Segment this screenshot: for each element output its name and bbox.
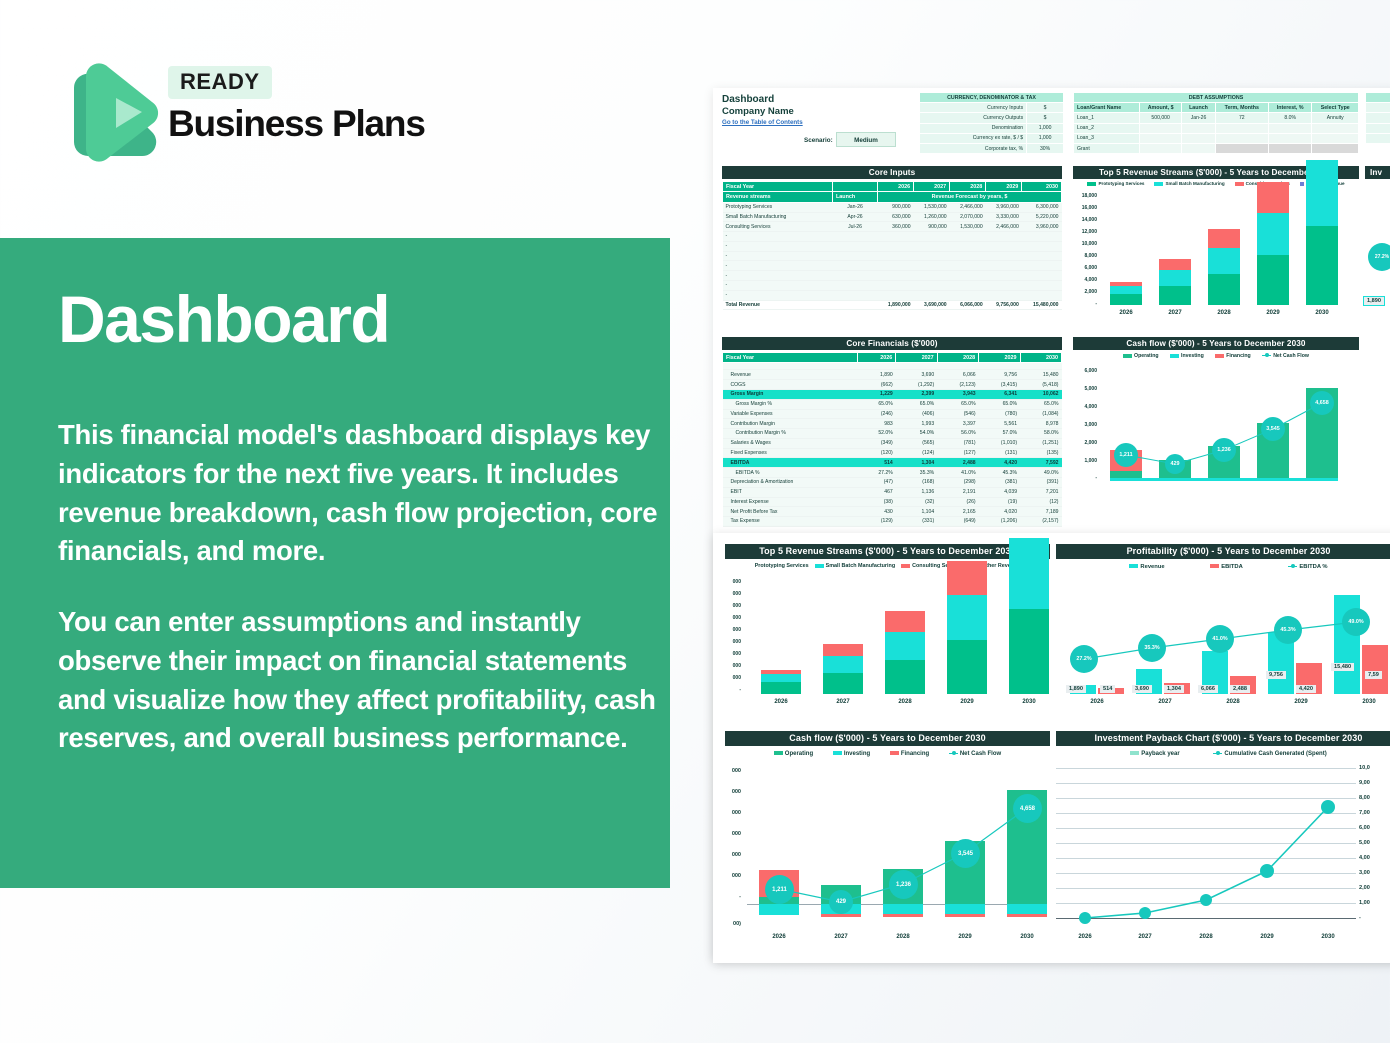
fin-value: (38): [858, 497, 896, 507]
debt-cell[interactable]: 72: [1215, 113, 1268, 123]
x-tick: 2030: [1342, 699, 1390, 705]
bar-segment: [1208, 248, 1240, 274]
stream-value[interactable]: [914, 261, 950, 271]
stream-launch[interactable]: [833, 271, 878, 281]
chart-title-cashflow-bottom: Cash flow ($'000) - 5 Years to December …: [725, 731, 1050, 746]
debt-cell[interactable]: [1215, 133, 1268, 143]
stream-launch[interactable]: Jul-26: [833, 222, 878, 232]
fin-label: Interest Expense: [723, 497, 858, 507]
fin-value: 65.0%: [1020, 399, 1061, 409]
fin-value: 430: [858, 507, 896, 517]
x-tick: 2026: [1110, 310, 1142, 316]
fin-label: EBITDA: [723, 458, 858, 468]
x-tick: 2028: [1206, 699, 1260, 705]
stream-launch[interactable]: Jan-26: [833, 202, 878, 212]
core-financials-year-header: Fiscal Year 2026 2027 2028 2029 2030: [723, 353, 1062, 363]
stream-value[interactable]: [1022, 290, 1062, 300]
stream-value[interactable]: [950, 232, 986, 242]
y-tick: 000: [725, 639, 741, 645]
debt-cell[interactable]: [1139, 133, 1181, 143]
currency-row-value[interactable]: $: [1027, 113, 1064, 123]
stream-value[interactable]: 2,466,000: [986, 222, 1022, 232]
fiscal-year-label: Fiscal Year: [723, 353, 858, 363]
year-header: 2029: [979, 353, 1020, 363]
stream-value[interactable]: 6,300,000: [1022, 202, 1062, 212]
debt-cell[interactable]: [1139, 143, 1181, 153]
x-tick: 2026: [759, 934, 799, 940]
scenario-select[interactable]: Medium: [836, 132, 896, 147]
stream-name[interactable]: -: [723, 290, 833, 300]
core-financials-banner: Core Financials ($'000): [722, 337, 1062, 350]
debt-cell: [1268, 143, 1312, 153]
x-tick: 2027: [1125, 934, 1165, 940]
total-value: 3,690,000: [914, 300, 950, 310]
fin-value: (19): [979, 497, 1020, 507]
fin-value: 1,136: [896, 487, 937, 497]
stream-name[interactable]: -: [723, 281, 833, 291]
fin-label: Net Profit Before Tax: [723, 507, 858, 517]
core-inputs-sub-header: Revenue streams Launch Revenue Forecast …: [723, 192, 1062, 202]
debt-cell[interactable]: [1312, 133, 1359, 143]
y-tick: 4,000: [1073, 277, 1097, 283]
bar-segment: [947, 640, 987, 694]
fin-value: 10,062: [1020, 389, 1061, 399]
fin-value: 2,488: [937, 458, 978, 468]
fin-value: 514: [858, 458, 896, 468]
debt-cell[interactable]: Grant: [1074, 143, 1140, 153]
stream-value[interactable]: 1,530,000: [914, 202, 950, 212]
total-value: 15,480,000: [1022, 300, 1062, 310]
stream-value[interactable]: [950, 251, 986, 261]
bar-segment: [1110, 282, 1142, 286]
profit-box-label: 1,890: [1363, 296, 1385, 306]
total-value: 1,890,000: [878, 300, 914, 310]
stream-value[interactable]: [986, 271, 1022, 281]
stream-launch[interactable]: Apr-26: [833, 212, 878, 222]
brand-name: Business Plans: [168, 103, 425, 145]
net-cash-flow-point: 3,545: [951, 839, 980, 868]
fin-value: 4,420: [979, 458, 1020, 468]
net-cash-flow-point: 1,236: [889, 870, 918, 899]
x-tick: 2026: [761, 699, 801, 705]
debt-cell[interactable]: Jan-26: [1182, 113, 1215, 123]
fin-value: 8,978: [1020, 419, 1061, 429]
fin-value: 1,993: [896, 419, 937, 429]
stream-name[interactable]: Small Batch Manufacturing: [723, 212, 833, 222]
stream-name[interactable]: Prototyping Services: [723, 202, 833, 212]
fin-value: (2,123): [937, 380, 978, 390]
debt-cell[interactable]: [1182, 133, 1215, 143]
fin-value: (5,418): [1020, 380, 1061, 390]
chart-investment-payback: Payback year Cumulative Cash Generated (…: [1056, 746, 1390, 958]
fin-value: (12): [1020, 497, 1061, 507]
bar-segment: [1110, 294, 1142, 305]
debt-col-header: Term, Months: [1215, 103, 1268, 113]
fin-label: Variable Expenses: [723, 409, 858, 419]
stream-launch[interactable]: [833, 232, 878, 242]
bar-segment: [885, 611, 925, 632]
stream-launch[interactable]: [833, 290, 878, 300]
debt-cell[interactable]: [1268, 133, 1312, 143]
y-tick: 6,000: [1073, 265, 1097, 271]
debt-cell[interactable]: Loan_3: [1074, 133, 1140, 143]
fiscal-year-label: Fiscal Year: [723, 182, 833, 192]
fin-value: 3,943: [937, 389, 978, 399]
table-row: Gross Margin %65.0%65.0%65.0%65.0%65.0%: [723, 399, 1062, 409]
y-tick: -: [725, 687, 741, 693]
working-cell[interactable]: [1366, 123, 1390, 133]
ebitda-percent-point: 35.3%: [1138, 634, 1166, 662]
x-tick: 2028: [885, 699, 925, 705]
stream-value[interactable]: [914, 232, 950, 242]
y-tick: -: [1073, 301, 1097, 307]
stream-value[interactable]: [878, 290, 914, 300]
chart-profitability: Revenue EBITDA EBITDA % 1,890 514 3,690 …: [1056, 559, 1390, 721]
stream-value[interactable]: 1,260,000: [914, 212, 950, 222]
stream-value[interactable]: [914, 251, 950, 261]
fin-value: (565): [896, 438, 937, 448]
stream-value[interactable]: 900,000: [914, 222, 950, 232]
year-header: 2030: [1020, 353, 1061, 363]
stream-name[interactable]: -: [723, 261, 833, 271]
stream-value[interactable]: [1022, 281, 1062, 291]
total-revenue-row: Total Revenue 1,890,000 3,690,000 6,066,…: [723, 300, 1062, 310]
table-row: COGS(662)(1,292)(2,123)(3,415)(5,418): [723, 380, 1062, 390]
fin-value: (391): [1020, 477, 1061, 487]
fin-value: 56.0%: [937, 429, 978, 439]
ebitda-percent-point: 49.0%: [1342, 608, 1370, 636]
table-row: EBITDA %27.2%35.3%41.0%45.3%49.0%: [723, 468, 1062, 478]
table-row: Contribution Margin %52.0%54.0%56.0%57.0…: [723, 429, 1062, 439]
bar-segment: [761, 682, 801, 694]
fin-value: 7,201: [1020, 487, 1061, 497]
stream-name[interactable]: -: [723, 251, 833, 261]
chart-title-revenue-streams-bottom: Top 5 Revenue Streams ($'000) - 5 Years …: [725, 544, 1050, 559]
stream-value[interactable]: 2,466,000: [950, 202, 986, 212]
stream-value[interactable]: [986, 290, 1022, 300]
table-row: Interest Expense(38)(32)(26)(19)(12): [723, 497, 1062, 507]
bar-segment: [947, 561, 987, 595]
bar-segment: [1257, 182, 1289, 213]
stream-name[interactable]: -: [723, 241, 833, 251]
fin-label: EBIT: [723, 487, 858, 497]
stream-value[interactable]: 5,220,000: [1022, 212, 1062, 222]
fin-value: (381): [979, 477, 1020, 487]
legend-item: Prototyping Services: [755, 563, 809, 569]
fin-value: (26): [937, 497, 978, 507]
stream-value[interactable]: [1022, 271, 1062, 281]
fin-value: 2,165: [937, 507, 978, 517]
net-cash-flow-line: [725, 746, 1050, 958]
ebitda-percent-point: 45.3%: [1274, 616, 1302, 644]
stream-launch[interactable]: [833, 261, 878, 271]
page-title: Dashboard: [58, 286, 389, 352]
year-header: 2028: [937, 353, 978, 363]
bar-segment: [1306, 226, 1338, 305]
fin-label: Contribution Margin: [723, 419, 858, 429]
net-cash-flow-point: 1,236: [1212, 438, 1236, 462]
x-tick: 2028: [1208, 310, 1240, 316]
table-of-contents-link[interactable]: Go to the Table of Contents: [722, 119, 803, 126]
table-row: EBITDA5141,3042,4884,4207,592: [723, 458, 1062, 468]
table-row: Contribution Margin9831,9933,3975,5618,9…: [723, 419, 1062, 429]
fin-value: 1,229: [858, 389, 896, 399]
x-tick: 2029: [1247, 934, 1287, 940]
fin-label: COGS: [723, 380, 858, 390]
stream-value[interactable]: [986, 281, 1022, 291]
forecast-label: Revenue Forecast by years, $: [878, 192, 1062, 202]
brand-logo[interactable]: READY Business Plans: [56, 54, 456, 166]
y-tick: 000: [725, 627, 741, 633]
fin-value: 1,890: [858, 370, 896, 380]
fin-value: 7,189: [1020, 507, 1061, 517]
bar-segment: [823, 656, 863, 673]
fin-value: (298): [937, 477, 978, 487]
debt-cell[interactable]: Loan_1: [1074, 113, 1140, 123]
fin-value: 15,480: [1020, 370, 1061, 380]
table-row: -: [723, 251, 1062, 261]
hero-paragraph-1: This financial model's dashboard display…: [58, 416, 658, 571]
stream-value[interactable]: [914, 241, 950, 251]
debt-cell[interactable]: [1215, 123, 1268, 133]
debt-cell[interactable]: [1182, 123, 1215, 133]
stream-value[interactable]: 360,000: [878, 222, 914, 232]
fin-value: 983: [858, 419, 896, 429]
fin-value: (546): [937, 409, 978, 419]
net-cash-flow-point: 429: [1165, 454, 1185, 474]
x-tick: 2029: [945, 934, 985, 940]
debt-cell[interactable]: Annuity: [1312, 113, 1359, 123]
chart-legend: Prototyping ServicesSmall Batch Manufact…: [725, 563, 1050, 569]
stream-value[interactable]: [986, 232, 1022, 242]
stream-value[interactable]: [986, 241, 1022, 251]
bar-segment: [761, 674, 801, 682]
stream-launch[interactable]: [833, 241, 878, 251]
fin-value: (781): [937, 438, 978, 448]
debt-cell[interactable]: [1268, 123, 1312, 133]
brand-badge: READY: [168, 66, 272, 99]
bar-segment: [823, 644, 863, 656]
bar-segment: [885, 660, 925, 694]
fin-value: (129): [858, 517, 896, 527]
stream-value[interactable]: [950, 241, 986, 251]
cumulative-cash-line: [1056, 746, 1390, 958]
sheet-subtitle: Company Name: [722, 106, 794, 117]
x-tick: 2029: [947, 699, 987, 705]
stream-name[interactable]: -: [723, 271, 833, 281]
bar-segment: [1208, 229, 1240, 248]
stream-launch[interactable]: [833, 281, 878, 291]
brand-wordmark: READY Business Plans: [168, 66, 425, 145]
fin-value: 45.3%: [979, 468, 1020, 478]
fin-value: (47): [858, 477, 896, 487]
stream-value[interactable]: [1022, 232, 1062, 242]
debt-cell[interactable]: Loan_2: [1074, 123, 1140, 133]
currency-row-label: Corporate tax, %: [920, 143, 1027, 153]
y-tick: 2,000: [1073, 289, 1097, 295]
table-row: Revenue1,8903,6906,0669,75615,480: [723, 370, 1062, 380]
chart-title-investment-partial: Inv: [1365, 166, 1390, 179]
table-row: Consulting ServicesJul-26360,000900,0001…: [723, 222, 1062, 232]
stream-value[interactable]: [914, 290, 950, 300]
currency-row-value[interactable]: $: [1027, 103, 1064, 113]
fin-value: (127): [937, 448, 978, 458]
fin-label: EBITDA %: [723, 468, 858, 478]
fin-value: 1,304: [896, 458, 937, 468]
fin-value: (32): [896, 497, 937, 507]
debt-col-header: Amount, $: [1139, 103, 1181, 113]
stream-value[interactable]: [914, 271, 950, 281]
debt-col-header: Launch: [1182, 103, 1215, 113]
table-row: Small Batch ManufacturingApr-26630,0001,…: [723, 212, 1062, 222]
fin-label: Gross Margin: [723, 389, 858, 399]
stream-value[interactable]: [986, 261, 1022, 271]
table-row: -: [723, 241, 1062, 251]
debt-cell[interactable]: [1139, 123, 1181, 133]
y-tick: 000: [725, 591, 741, 597]
year-header: 2028: [950, 182, 986, 192]
stream-value[interactable]: [986, 251, 1022, 261]
fin-value: (406): [896, 409, 937, 419]
stream-name[interactable]: -: [723, 232, 833, 242]
working-cell[interactable]: [1366, 113, 1390, 123]
working-panel-header: WOR: [1366, 93, 1390, 103]
table-row: Fixed Expenses(120)(124)(127)(131)(135): [723, 448, 1062, 458]
stream-launch[interactable]: [833, 251, 878, 261]
bar-segment: [1306, 160, 1338, 226]
x-tick: 2030: [1308, 934, 1348, 940]
debt-cell[interactable]: [1182, 143, 1215, 153]
chart-cashflow-top: Operating Investing Financing Net Cash F…: [1073, 350, 1359, 490]
sheet-title: Dashboard: [722, 94, 774, 105]
total-label: Total Revenue: [723, 300, 833, 310]
fin-value: (1,251): [1020, 438, 1061, 448]
stream-value[interactable]: [1022, 241, 1062, 251]
currency-row-label: Currency ex rate, $ / $: [920, 133, 1027, 143]
stream-value[interactable]: 900,000: [878, 202, 914, 212]
working-capital-panel: WOR A De: [1365, 92, 1390, 144]
year-header: 2027: [896, 353, 937, 363]
y-tick: 000: [725, 615, 741, 621]
fin-value: (2,157): [1020, 517, 1061, 527]
y-tick: 000: [725, 651, 741, 657]
stream-value[interactable]: 630,000: [878, 212, 914, 222]
debt-row: Loan_1 500,000 Jan-26 72 8.0% Annuity: [1074, 113, 1359, 123]
debt-panel-header: DEBT ASSUMPTIONS: [1074, 93, 1359, 103]
table-row: Depreciation & Amortization(47)(168)(298…: [723, 477, 1062, 487]
stream-value[interactable]: 2,070,000: [950, 212, 986, 222]
stream-value[interactable]: [878, 251, 914, 261]
fin-value: 65.0%: [937, 399, 978, 409]
currency-row-value[interactable]: 1,000: [1027, 133, 1064, 143]
stream-value[interactable]: 3,330,000: [986, 212, 1022, 222]
ebitda-percent-point: 41.0%: [1206, 625, 1234, 653]
table-row: -: [723, 261, 1062, 271]
net-cash-flow-point: 1,211: [1114, 443, 1138, 467]
x-tick: 2028: [1186, 934, 1226, 940]
net-cash-flow-point: 4,658: [1310, 391, 1334, 415]
x-tick: 2027: [821, 934, 861, 940]
stream-value[interactable]: [950, 261, 986, 271]
bar-segment: [823, 673, 863, 694]
currency-row-value[interactable]: 1,000: [1027, 123, 1064, 133]
core-inputs-year-header: Fiscal Year 2026 2027 2028 2029 2030: [723, 182, 1062, 192]
fin-value: 35.3%: [896, 468, 937, 478]
year-header: 2027: [914, 182, 950, 192]
stream-value[interactable]: [914, 281, 950, 291]
x-tick: 2030: [1007, 934, 1047, 940]
core-inputs-table: Fiscal Year 2026 2027 2028 2029 2030 Rev…: [722, 181, 1062, 310]
table-row: -: [723, 271, 1062, 281]
fin-value: 6,341: [979, 389, 1020, 399]
bar-segment: [1257, 255, 1289, 305]
stream-value[interactable]: 1,530,000: [950, 222, 986, 232]
net-cash-flow-line: [1073, 350, 1359, 490]
debt-cell[interactable]: 500,000: [1139, 113, 1181, 123]
fin-value: 2,399: [896, 389, 937, 399]
fin-value: 49.0%: [1020, 468, 1061, 478]
debt-col-header: Select Type: [1312, 103, 1359, 113]
stream-value[interactable]: 3,960,000: [986, 202, 1022, 212]
fin-label: Contribution Margin %: [723, 429, 858, 439]
stream-value[interactable]: [950, 281, 986, 291]
bar-segment: [761, 670, 801, 674]
y-tick: 8,000: [1073, 253, 1097, 259]
hero-panel: Dashboard This financial model's dashboa…: [0, 238, 670, 888]
year-header: 2029: [986, 182, 1022, 192]
table-row: Variable Expenses(246)(406)(546)(780)(1,…: [723, 409, 1062, 419]
currency-row-value[interactable]: 30%: [1027, 143, 1064, 153]
debt-cell[interactable]: 8.0%: [1268, 113, 1312, 123]
stream-value[interactable]: [878, 261, 914, 271]
x-tick: 2029: [1274, 699, 1328, 705]
debt-col-header: Loan/Grant Name: [1074, 103, 1140, 113]
year-header: 2030: [1022, 182, 1062, 192]
stream-value[interactable]: [1022, 251, 1062, 261]
y-tick: 10,000: [1073, 241, 1097, 247]
fin-value: (331): [896, 517, 937, 527]
fin-value: 58.0%: [1020, 429, 1061, 439]
bar-segment: [1208, 274, 1240, 305]
table-row: -: [723, 232, 1062, 242]
year-header: 2026: [878, 182, 914, 192]
stream-name[interactable]: Consulting Services: [723, 222, 833, 232]
working-cell[interactable]: A: [1366, 103, 1390, 113]
debt-row: Grant: [1074, 143, 1359, 153]
y-tick: 000: [725, 579, 741, 585]
stream-value[interactable]: [1022, 261, 1062, 271]
x-tick: 2028: [883, 934, 923, 940]
stream-value[interactable]: [878, 241, 914, 251]
stream-value[interactable]: [878, 271, 914, 281]
y-tick: 12,000: [1073, 229, 1097, 235]
stream-value[interactable]: [950, 271, 986, 281]
bar-segment: [1159, 286, 1191, 305]
debt-cell[interactable]: [1312, 123, 1359, 133]
fin-label: Gross Margin %: [723, 399, 858, 409]
stream-value[interactable]: [878, 232, 914, 242]
stream-value[interactable]: [950, 290, 986, 300]
dashboard-spreadsheet-front: Top 5 Revenue Streams ($'000) - 5 Years …: [713, 533, 1390, 963]
working-cell[interactable]: De: [1366, 133, 1390, 143]
x-tick: 2030: [1306, 310, 1338, 316]
fin-value: (662): [858, 380, 896, 390]
scenario-label: Scenario:: [804, 137, 833, 144]
stream-value[interactable]: [878, 281, 914, 291]
y-tick: 14,000: [1073, 217, 1097, 223]
stream-value[interactable]: 3,960,000: [1022, 222, 1062, 232]
debt-assumptions-panel: DEBT ASSUMPTIONS Loan/Grant Name Amount,…: [1073, 92, 1359, 154]
